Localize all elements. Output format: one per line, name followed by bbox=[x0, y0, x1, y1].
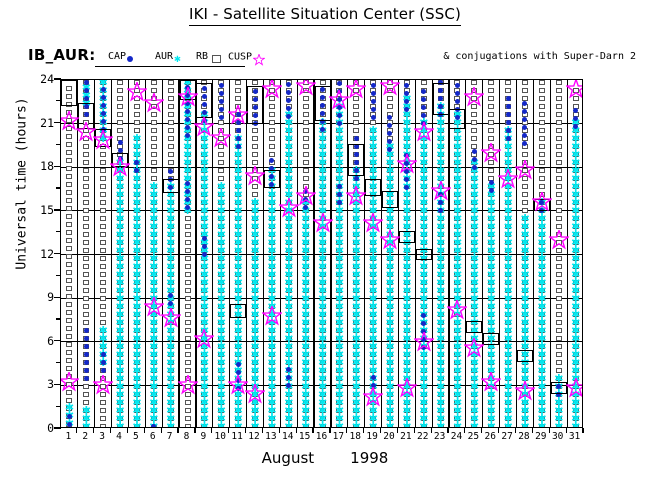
day-separator bbox=[347, 80, 348, 427]
marker-rb bbox=[505, 80, 511, 85]
day-separator bbox=[567, 80, 568, 427]
marker-rb bbox=[83, 160, 89, 165]
marker-rb bbox=[168, 88, 174, 93]
day-separator bbox=[313, 80, 314, 427]
marker-rb bbox=[100, 280, 106, 285]
marker-rb bbox=[556, 224, 562, 229]
marker-aur: ✱ bbox=[65, 403, 74, 412]
marker-rb bbox=[100, 400, 106, 405]
marker-rb bbox=[556, 304, 562, 309]
day-separator bbox=[145, 80, 146, 427]
marker-rb bbox=[353, 128, 359, 133]
day-separator bbox=[263, 80, 264, 427]
marker-cap bbox=[84, 376, 89, 381]
marker-cap bbox=[84, 360, 89, 365]
marker-rb bbox=[539, 88, 545, 93]
marker-rb bbox=[100, 224, 106, 229]
marker-rb bbox=[387, 96, 393, 101]
marker-rb bbox=[185, 240, 191, 245]
marker-rb bbox=[522, 88, 528, 93]
marker-cusp bbox=[245, 166, 265, 186]
marker-rb bbox=[66, 158, 72, 163]
marker-rb bbox=[269, 144, 275, 149]
conjugation-highlight-box bbox=[264, 170, 280, 187]
marker-rb bbox=[83, 240, 89, 245]
marker-cap bbox=[118, 140, 123, 145]
marker-rb bbox=[66, 366, 72, 371]
marker-cusp bbox=[566, 378, 583, 398]
marker-cap bbox=[371, 91, 376, 96]
marker-rb bbox=[303, 128, 309, 133]
marker-rb bbox=[471, 144, 477, 149]
marker-rb bbox=[66, 230, 72, 235]
conjugation-highlight-box bbox=[466, 321, 482, 333]
marker-rb bbox=[488, 136, 494, 141]
conjugation-highlight-box bbox=[247, 86, 263, 124]
marker-cusp bbox=[296, 79, 316, 96]
marker-rb bbox=[556, 344, 562, 349]
marker-cusp bbox=[397, 154, 417, 174]
marker-rb bbox=[252, 136, 258, 141]
marker-rb bbox=[252, 80, 258, 85]
marker-rb bbox=[66, 326, 72, 331]
marker-rb bbox=[556, 264, 562, 269]
marker-cusp bbox=[228, 105, 248, 125]
day-separator bbox=[448, 80, 449, 427]
marker-cap bbox=[286, 90, 291, 95]
marker-rb bbox=[353, 120, 359, 125]
marker-rb bbox=[556, 184, 562, 189]
marker-rb bbox=[83, 264, 89, 269]
legend-underline bbox=[95, 66, 245, 67]
marker-rb bbox=[556, 144, 562, 149]
marker-rb bbox=[556, 336, 562, 341]
marker-cap bbox=[421, 97, 426, 102]
marker-cap bbox=[101, 111, 106, 116]
marker-rb bbox=[66, 150, 72, 155]
marker-rb bbox=[185, 312, 191, 317]
marker-rb bbox=[100, 408, 106, 413]
marker-cap bbox=[337, 184, 342, 189]
marker-rb bbox=[168, 96, 174, 101]
marker-cap bbox=[185, 109, 190, 114]
marker-rb bbox=[151, 168, 157, 173]
y-axis-tick-label: 12 bbox=[28, 247, 54, 261]
marker-rb bbox=[185, 408, 191, 413]
marker-cusp bbox=[60, 372, 79, 392]
marker-cap bbox=[337, 200, 342, 205]
marker-rb bbox=[100, 312, 106, 317]
marker-rb bbox=[151, 144, 157, 149]
marker-rb bbox=[185, 400, 191, 405]
marker-cap bbox=[185, 133, 190, 138]
marker-rb bbox=[218, 160, 224, 165]
marker-cap bbox=[337, 81, 342, 86]
marker-rb bbox=[100, 272, 106, 277]
marker-rb bbox=[488, 96, 494, 101]
marker-rb bbox=[66, 302, 72, 307]
marker-rb bbox=[151, 136, 157, 141]
marker-rb bbox=[556, 152, 562, 157]
marker-rb bbox=[471, 120, 477, 125]
conjugation-highlight-box bbox=[230, 304, 246, 319]
marker-rb bbox=[66, 190, 72, 195]
marker-rb bbox=[269, 136, 275, 141]
marker-cap bbox=[421, 89, 426, 94]
marker-cap bbox=[337, 113, 342, 118]
conjugation-highlight-box bbox=[315, 86, 331, 121]
marker-cusp bbox=[296, 186, 316, 206]
marker-rb bbox=[168, 104, 174, 109]
marker-rb bbox=[488, 80, 494, 85]
conjugation-highlight-box bbox=[551, 382, 567, 394]
marker-rb bbox=[353, 112, 359, 117]
marker-cusp bbox=[144, 93, 164, 113]
marker-rb bbox=[100, 168, 106, 173]
marker-rb bbox=[556, 120, 562, 125]
marker-cusp bbox=[515, 381, 535, 401]
marker-cap bbox=[489, 188, 494, 193]
marker-rb bbox=[556, 112, 562, 117]
marker-aur: ✱ bbox=[554, 374, 563, 383]
marker-rb bbox=[488, 88, 494, 93]
marker-rb bbox=[100, 232, 106, 237]
legend-item-label: CAP bbox=[108, 51, 126, 62]
marker-cap bbox=[202, 244, 207, 249]
marker-rb bbox=[556, 320, 562, 325]
marker-rb bbox=[556, 136, 562, 141]
marker-rb bbox=[539, 96, 545, 101]
marker-rb bbox=[66, 206, 72, 211]
marker-rb bbox=[83, 184, 89, 189]
marker-rb bbox=[134, 112, 140, 117]
marker-rb bbox=[66, 278, 72, 283]
marker-cap bbox=[101, 95, 106, 100]
marker-rb bbox=[522, 192, 528, 197]
day-separator bbox=[162, 80, 163, 427]
marker-rb bbox=[83, 168, 89, 173]
marker-cusp bbox=[464, 87, 484, 107]
marker-rb bbox=[83, 280, 89, 285]
marker-rb bbox=[471, 112, 477, 117]
marker-rb bbox=[556, 360, 562, 365]
marker-rb bbox=[185, 296, 191, 301]
marker-cap bbox=[506, 120, 511, 125]
marker-rb bbox=[269, 104, 275, 109]
y-axis-tick-label: 21 bbox=[28, 116, 54, 130]
legend-open-star-icon bbox=[253, 54, 265, 66]
marker-cap bbox=[101, 87, 106, 92]
marker-rb bbox=[269, 152, 275, 157]
marker-rb bbox=[83, 272, 89, 277]
marker-rb bbox=[83, 144, 89, 149]
conjugation-highlight-box bbox=[399, 231, 415, 243]
marker-rb bbox=[269, 112, 275, 117]
marker-rb bbox=[556, 104, 562, 109]
marker-rb bbox=[100, 248, 106, 253]
marker-rb bbox=[83, 304, 89, 309]
conjugation-highlight-box bbox=[196, 83, 212, 118]
marker-rb bbox=[117, 96, 123, 101]
marker-rb bbox=[488, 168, 494, 173]
marker-cap bbox=[506, 128, 511, 133]
day-separator bbox=[550, 80, 551, 427]
marker-cap bbox=[236, 362, 241, 367]
marker-rb bbox=[100, 192, 106, 197]
marker-rb bbox=[83, 208, 89, 213]
marker-rb bbox=[556, 96, 562, 101]
marker-rb bbox=[387, 104, 393, 109]
marker-cap bbox=[371, 99, 376, 104]
legend-item-label: AUR bbox=[155, 51, 173, 62]
marker-rb bbox=[539, 184, 545, 189]
marker-aur: ✱ bbox=[217, 182, 226, 191]
marker-rb bbox=[505, 88, 511, 93]
marker-aur: ✱ bbox=[369, 126, 378, 135]
marker-cusp bbox=[481, 143, 501, 163]
marker-cap bbox=[506, 96, 511, 101]
marker-cusp bbox=[211, 128, 231, 148]
marker-rb bbox=[185, 368, 191, 373]
marker-rb bbox=[168, 152, 174, 157]
marker-rb bbox=[218, 168, 224, 173]
marker-rb bbox=[100, 304, 106, 309]
marker-rb bbox=[168, 128, 174, 133]
legend-item-aur: AUR✱ bbox=[155, 51, 181, 63]
marker-rb bbox=[66, 342, 72, 347]
marker-cusp bbox=[313, 213, 333, 233]
marker-rb bbox=[539, 176, 545, 181]
marker-rb bbox=[100, 152, 106, 157]
marker-rb bbox=[471, 128, 477, 133]
marker-rb bbox=[522, 96, 528, 101]
marker-rb bbox=[539, 128, 545, 133]
marker-cusp bbox=[363, 387, 383, 407]
x-axis-labels: 1234567891011121314151617181920212223242… bbox=[60, 431, 583, 447]
marker-cap bbox=[320, 127, 325, 132]
day-separator bbox=[128, 80, 129, 427]
marker-rb bbox=[100, 296, 106, 301]
marker-rb bbox=[185, 248, 191, 253]
marker-rb bbox=[151, 152, 157, 157]
legend-open-square-icon bbox=[212, 55, 221, 63]
marker-cusp bbox=[397, 378, 417, 398]
marker-rb bbox=[539, 80, 545, 85]
conjugation-highlight-box bbox=[61, 80, 77, 106]
marker-rb bbox=[117, 112, 123, 117]
marker-rb bbox=[539, 144, 545, 149]
marker-rb bbox=[100, 200, 106, 205]
day-separator bbox=[330, 80, 331, 427]
marker-cusp bbox=[346, 186, 366, 206]
legend: IB_AUR: CAPAUR✱RBCUSP & conjugations wit… bbox=[0, 46, 650, 68]
marker-rb bbox=[134, 120, 140, 125]
marker-cap bbox=[84, 336, 89, 341]
marker-rb bbox=[83, 248, 89, 253]
marker-rb bbox=[151, 80, 157, 85]
marker-rb bbox=[556, 280, 562, 285]
marker-cap bbox=[84, 344, 89, 349]
legend-item-label: RB bbox=[196, 51, 208, 62]
y-axis-tick-label: 15 bbox=[28, 203, 54, 217]
conjugation-highlight-box bbox=[382, 191, 398, 208]
marker-rb bbox=[539, 120, 545, 125]
marker-cap bbox=[286, 98, 291, 103]
marker-aur: ✱ bbox=[149, 182, 158, 191]
marker-aur: ✱ bbox=[99, 79, 108, 87]
marker-rb bbox=[303, 104, 309, 109]
marker-rb bbox=[100, 416, 106, 421]
marker-cap bbox=[337, 192, 342, 197]
marker-cusp bbox=[93, 130, 113, 150]
marker-rb bbox=[185, 416, 191, 421]
marker-rb bbox=[66, 270, 72, 275]
marker-rb bbox=[522, 184, 528, 189]
conjugation-highlight-box bbox=[163, 179, 179, 194]
conjugation-highlight-box bbox=[433, 83, 449, 115]
marker-rb bbox=[66, 182, 72, 187]
marker-cap bbox=[286, 82, 291, 87]
marker-cusp bbox=[515, 160, 535, 180]
marker-rb bbox=[83, 216, 89, 221]
marker-cap bbox=[101, 119, 106, 124]
marker-rb bbox=[66, 142, 72, 147]
marker-cap bbox=[337, 121, 342, 126]
marker-rb bbox=[66, 318, 72, 323]
marker-cusp bbox=[566, 79, 583, 99]
marker-rb bbox=[556, 272, 562, 277]
marker-rb bbox=[539, 168, 545, 173]
marker-rb bbox=[66, 214, 72, 219]
marker-rb bbox=[117, 80, 123, 85]
legend-item-label: CUSP bbox=[228, 52, 252, 63]
marker-rb bbox=[185, 328, 191, 333]
marker-rb bbox=[556, 296, 562, 301]
marker-cusp bbox=[346, 79, 366, 99]
marker-rb bbox=[66, 222, 72, 227]
marker-rb bbox=[151, 128, 157, 133]
day-separator bbox=[364, 80, 365, 427]
marker-rb bbox=[556, 128, 562, 133]
marker-rb bbox=[83, 288, 89, 293]
marker-aur: ✱ bbox=[99, 326, 108, 335]
marker-rb bbox=[539, 152, 545, 157]
marker-rb bbox=[252, 160, 258, 165]
marker-cusp bbox=[414, 332, 434, 352]
marker-cap bbox=[472, 149, 477, 154]
conjugation-highlight-box bbox=[449, 109, 465, 129]
y-axis-tick-label: 9 bbox=[28, 290, 54, 304]
marker-rb bbox=[539, 104, 545, 109]
marker-rb bbox=[556, 168, 562, 173]
marker-cusp bbox=[110, 157, 130, 177]
marker-rb bbox=[66, 198, 72, 203]
chart-page: IKI - Satellite Situation Center (SSC) I… bbox=[0, 0, 650, 500]
marker-rb bbox=[235, 80, 241, 85]
x-axis-year: 1998 bbox=[350, 449, 388, 467]
marker-cusp bbox=[178, 375, 198, 395]
marker-rb bbox=[185, 256, 191, 261]
marker-rb bbox=[185, 280, 191, 285]
marker-rb bbox=[556, 208, 562, 213]
marker-rb bbox=[83, 152, 89, 157]
marker-cusp bbox=[245, 384, 265, 404]
marker-rb bbox=[83, 296, 89, 301]
marker-rb bbox=[66, 174, 72, 179]
legend-note: & conjugations with Super-Darn 2 bbox=[443, 51, 636, 62]
marker-rb bbox=[83, 320, 89, 325]
marker-rb bbox=[235, 96, 241, 101]
marker-rb bbox=[488, 112, 494, 117]
y-axis-tick-label: 18 bbox=[28, 159, 54, 173]
marker-rb bbox=[185, 232, 191, 237]
title-container: IKI - Satellite Situation Center (SSC) bbox=[0, 4, 650, 26]
marker-rb bbox=[83, 176, 89, 181]
marker-rb bbox=[117, 120, 123, 125]
day-separator bbox=[533, 80, 534, 427]
marker-rb bbox=[303, 152, 309, 157]
marker-rb bbox=[100, 264, 106, 269]
x-axis-tick-label: 31 bbox=[565, 431, 585, 442]
marker-rb bbox=[185, 352, 191, 357]
marker-rb bbox=[218, 120, 224, 125]
marker-cap bbox=[506, 112, 511, 117]
marker-rb bbox=[488, 104, 494, 109]
marker-rb bbox=[66, 238, 72, 243]
marker-cap bbox=[202, 236, 207, 241]
marker-rb bbox=[117, 128, 123, 133]
day-separator bbox=[465, 80, 466, 427]
marker-cusp bbox=[178, 87, 198, 107]
day-separator bbox=[297, 80, 298, 427]
marker-rb bbox=[556, 288, 562, 293]
marker-rb bbox=[151, 120, 157, 125]
x-axis-month: August bbox=[262, 449, 315, 467]
marker-rb bbox=[66, 246, 72, 251]
marker-rb bbox=[66, 166, 72, 171]
marker-rb bbox=[235, 88, 241, 93]
marker-cusp bbox=[262, 79, 282, 99]
marker-cap bbox=[404, 91, 409, 96]
marker-cap bbox=[371, 115, 376, 120]
marker-cap bbox=[489, 180, 494, 185]
marker-cusp bbox=[380, 79, 400, 96]
marker-cusp bbox=[431, 181, 451, 201]
marker-rb bbox=[303, 168, 309, 173]
y-axis-tick-label: 0 bbox=[28, 421, 54, 435]
marker-rb bbox=[66, 334, 72, 339]
marker-rb bbox=[100, 184, 106, 189]
marker-rb bbox=[556, 160, 562, 165]
marker-rb bbox=[66, 254, 72, 259]
marker-rb bbox=[539, 136, 545, 141]
marker-cap bbox=[185, 125, 190, 130]
marker-cap bbox=[506, 104, 511, 109]
marker-rb bbox=[353, 104, 359, 109]
marker-rb bbox=[83, 392, 89, 397]
marker-rb bbox=[100, 256, 106, 261]
marker-rb bbox=[522, 152, 528, 157]
marker-rb bbox=[303, 176, 309, 181]
marker-cap bbox=[202, 252, 207, 257]
marker-rb bbox=[168, 112, 174, 117]
marker-aur: ✱ bbox=[82, 406, 91, 415]
marker-rb bbox=[269, 128, 275, 133]
marker-aur: ✱ bbox=[251, 198, 260, 207]
marker-rb bbox=[83, 192, 89, 197]
marker-rb bbox=[185, 304, 191, 309]
y-axis-tick-label: 24 bbox=[28, 72, 54, 86]
